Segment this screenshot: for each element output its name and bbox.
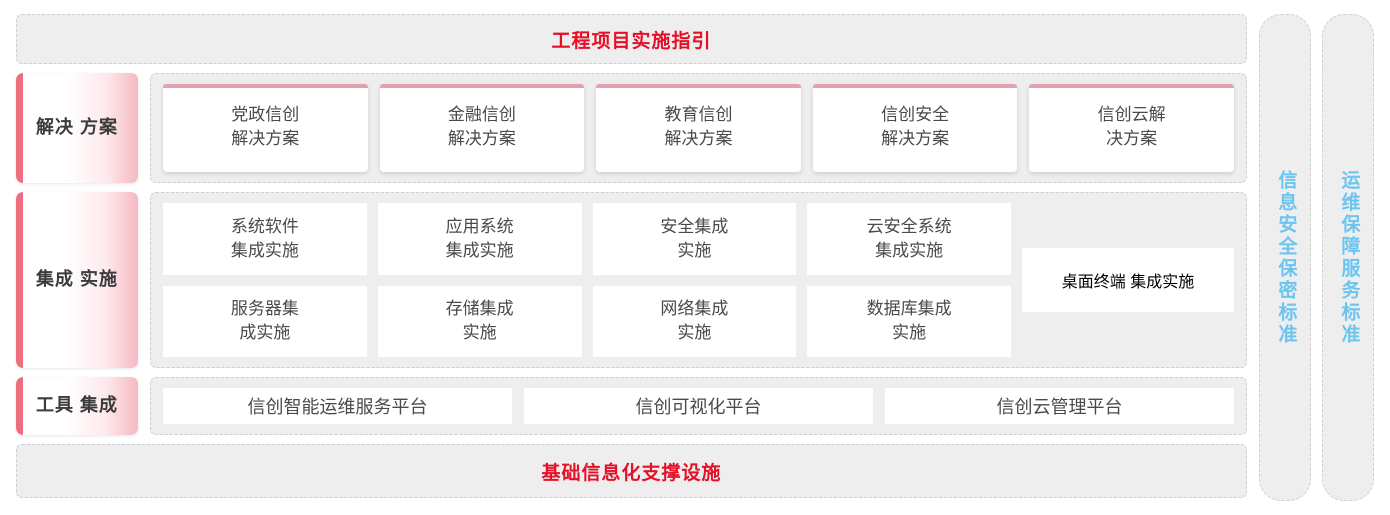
integration-card-label: 数据库集成 实施	[867, 297, 952, 345]
integration-card[interactable]: 安全集成 实施	[593, 203, 797, 275]
tab-tools[interactable]: 工具 集成	[16, 377, 138, 435]
side-panel-label: 运维保障服务标准	[1334, 170, 1363, 346]
solution-card-label: 信创安全 解决方案	[881, 103, 949, 157]
tool-card-label: 信创智能运维服务平台	[248, 393, 428, 419]
tab-tools-label: 工具 集成	[36, 394, 118, 417]
tab-integration-label: 集成 实施	[36, 268, 118, 291]
side-panel-label: 信息安全保密标准	[1271, 170, 1300, 346]
solution-card[interactable]: 信创云解 决方案	[1029, 84, 1234, 172]
tool-card[interactable]: 信创智能运维服务平台	[163, 388, 512, 424]
integration-card-label: 网络集成 实施	[660, 297, 728, 345]
tool-card-row: 信创智能运维服务平台 信创可视化平台 信创云管理平台	[163, 388, 1234, 424]
integration-card-label: 云安全系统 集成实施	[867, 215, 952, 263]
solution-card[interactable]: 金融信创 解决方案	[380, 84, 585, 172]
solution-card[interactable]: 教育信创 解决方案	[596, 84, 801, 172]
band-tools: 工具 集成 信创智能运维服务平台 信创可视化平台 信创云管理平台	[16, 377, 1247, 435]
band-solutions: 解决 方案 党政信创 解决方案 金融信创 解决方案 教育信创 解决方案 信创安全…	[16, 73, 1247, 183]
tool-card-label: 信创可视化平台	[636, 393, 762, 419]
tab-solutions[interactable]: 解决 方案	[16, 73, 138, 183]
page-title: 工程项目实施指引	[551, 26, 711, 53]
integration-card[interactable]: 系统软件 集成实施	[163, 203, 367, 275]
footer-banner: 基础信息化支撑设施	[16, 444, 1247, 498]
integration-card[interactable]: 网络集成 实施	[593, 286, 797, 358]
solution-card-row: 党政信创 解决方案 金融信创 解决方案 教育信创 解决方案 信创安全 解决方案 …	[163, 84, 1234, 172]
tool-card[interactable]: 信创可视化平台	[524, 388, 873, 424]
solution-card[interactable]: 信创安全 解决方案	[813, 84, 1018, 172]
solution-card[interactable]: 党政信创 解决方案	[163, 84, 368, 172]
integration-card-label: 存储集成 实施	[446, 297, 514, 345]
band-integration: 集成 实施 系统软件 集成实施 应用系统 集成实施 安全集成 实施	[16, 192, 1247, 368]
panel-tools: 信创智能运维服务平台 信创可视化平台 信创云管理平台	[150, 377, 1247, 435]
integration-card[interactable]: 存储集成 实施	[378, 286, 582, 358]
panel-integration: 系统软件 集成实施 应用系统 集成实施 安全集成 实施 云安全系统 集成实施 服	[150, 192, 1247, 368]
integration-layout: 系统软件 集成实施 应用系统 集成实施 安全集成 实施 云安全系统 集成实施 服	[163, 203, 1234, 357]
integration-card[interactable]: 数据库集成 实施	[807, 286, 1011, 358]
integration-card-grid: 系统软件 集成实施 应用系统 集成实施 安全集成 实施 云安全系统 集成实施 服	[163, 203, 1011, 357]
side-panel-security-standard[interactable]: 信息安全保密标准	[1259, 14, 1311, 501]
solution-card-label: 金融信创 解决方案	[448, 103, 516, 157]
solution-card-label: 党政信创 解决方案	[231, 103, 299, 157]
tool-card[interactable]: 信创云管理平台	[885, 388, 1234, 424]
panel-solutions: 党政信创 解决方案 金融信创 解决方案 教育信创 解决方案 信创安全 解决方案 …	[150, 73, 1247, 183]
side-panel-service-standard[interactable]: 运维保障服务标准	[1322, 14, 1374, 501]
tab-integration[interactable]: 集成 实施	[16, 192, 138, 368]
solution-card-label: 教育信创 解决方案	[664, 103, 732, 157]
integration-card-label: 系统软件 集成实施	[231, 215, 299, 263]
integration-card-label: 安全集成 实施	[660, 215, 728, 263]
footer-title: 基础信息化支撑设施	[541, 458, 721, 485]
solution-card-label: 信创云解 决方案	[1098, 103, 1166, 157]
header-banner: 工程项目实施指引	[16, 14, 1247, 64]
integration-card-label: 桌面终端 集成实施	[1062, 268, 1194, 292]
integration-card-label: 服务器集 成实施	[231, 297, 299, 345]
integration-card[interactable]: 应用系统 集成实施	[378, 203, 582, 275]
main-column: 工程项目实施指引 解决 方案 党政信创 解决方案 金融信创 解决方案 教育信创 …	[16, 14, 1247, 501]
integration-card[interactable]: 云安全系统 集成实施	[807, 203, 1011, 275]
integration-card-desktop-terminal[interactable]: 桌面终端 集成实施	[1022, 248, 1234, 312]
integration-card-label: 应用系统 集成实施	[446, 215, 514, 263]
diagram-root: 工程项目实施指引 解决 方案 党政信创 解决方案 金融信创 解决方案 教育信创 …	[0, 0, 1390, 515]
integration-side-slot: 桌面终端 集成实施	[1022, 203, 1234, 357]
tool-card-label: 信创云管理平台	[997, 393, 1123, 419]
side-standards-stack: 信息安全保密标准 运维保障服务标准	[1259, 14, 1374, 501]
tab-solutions-label: 解决 方案	[36, 116, 118, 139]
integration-card[interactable]: 服务器集 成实施	[163, 286, 367, 358]
